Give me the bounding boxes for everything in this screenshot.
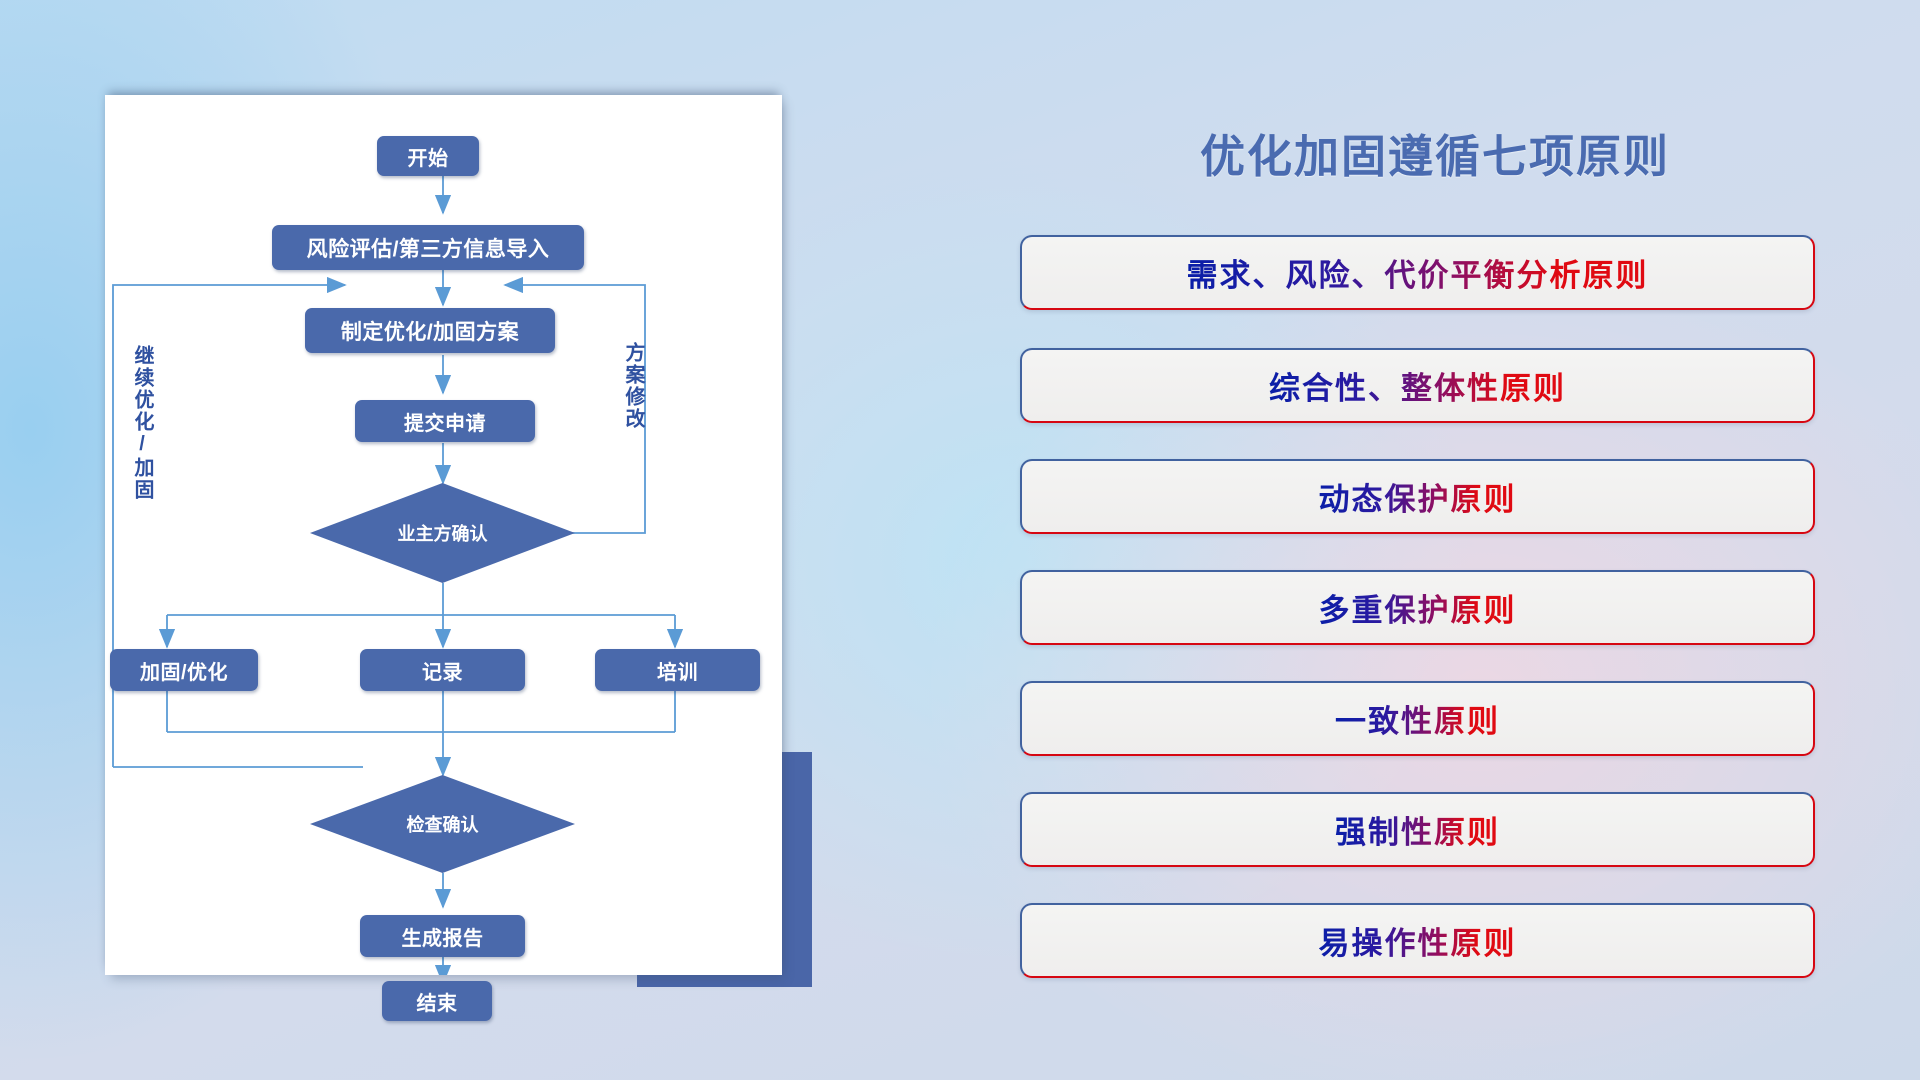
loop-label-continue-optimize: 继续优化/加固 bbox=[131, 345, 152, 501]
flow-node-reinforce-optimize[interactable]: 加固/优化 bbox=[110, 649, 258, 691]
principle-label: 一致性原则 bbox=[1335, 696, 1500, 741]
principle-label: 多重保护原则 bbox=[1319, 585, 1517, 630]
principle-label: 需求、风险、代价平衡分析原则 bbox=[1187, 250, 1649, 295]
flow-node-training[interactable]: 培训 bbox=[595, 649, 760, 691]
flow-node-plan[interactable]: 制定优化/加固方案 bbox=[305, 308, 555, 353]
principle-label: 动态保护原则 bbox=[1319, 474, 1517, 519]
flow-node-submit-application[interactable]: 提交申请 bbox=[355, 400, 535, 442]
principle-card[interactable]: 综合性、整体性原则 bbox=[1020, 348, 1815, 423]
flow-node-generate-report[interactable]: 生成报告 bbox=[360, 915, 525, 957]
flowchart-panel: 开始 风险评估/第三方信息导入 制定优化/加固方案 提交申请 业主方确认 加固/… bbox=[105, 95, 782, 975]
flow-node-end[interactable]: 结束 bbox=[382, 981, 492, 1021]
principle-label: 易操作性原则 bbox=[1319, 918, 1517, 963]
principle-card[interactable]: 易操作性原则 bbox=[1020, 903, 1815, 978]
principle-label: 强制性原则 bbox=[1335, 807, 1500, 852]
flow-node-record[interactable]: 记录 bbox=[360, 649, 525, 691]
principles-pane: 优化加固遵循七项原则 需求、风险、代价平衡分析原则 综合性、整体性原则 动态保护… bbox=[1020, 95, 1850, 1025]
loop-label-plan-revision: 方案修改 bbox=[622, 342, 643, 430]
principle-label: 综合性、整体性原则 bbox=[1269, 363, 1566, 408]
principle-card[interactable]: 多重保护原则 bbox=[1020, 570, 1815, 645]
flow-node-start[interactable]: 开始 bbox=[377, 136, 479, 176]
principles-title: 优化加固遵循七项原则 bbox=[1020, 120, 1850, 185]
principle-card[interactable]: 一致性原则 bbox=[1020, 681, 1815, 756]
principle-card[interactable]: 需求、风险、代价平衡分析原则 bbox=[1020, 235, 1815, 310]
flow-node-risk-assessment[interactable]: 风险评估/第三方信息导入 bbox=[272, 225, 584, 270]
principle-card[interactable]: 动态保护原则 bbox=[1020, 459, 1815, 534]
principle-card[interactable]: 强制性原则 bbox=[1020, 792, 1815, 867]
slide-canvas: 开始 风险评估/第三方信息导入 制定优化/加固方案 提交申请 业主方确认 加固/… bbox=[0, 0, 1920, 1080]
